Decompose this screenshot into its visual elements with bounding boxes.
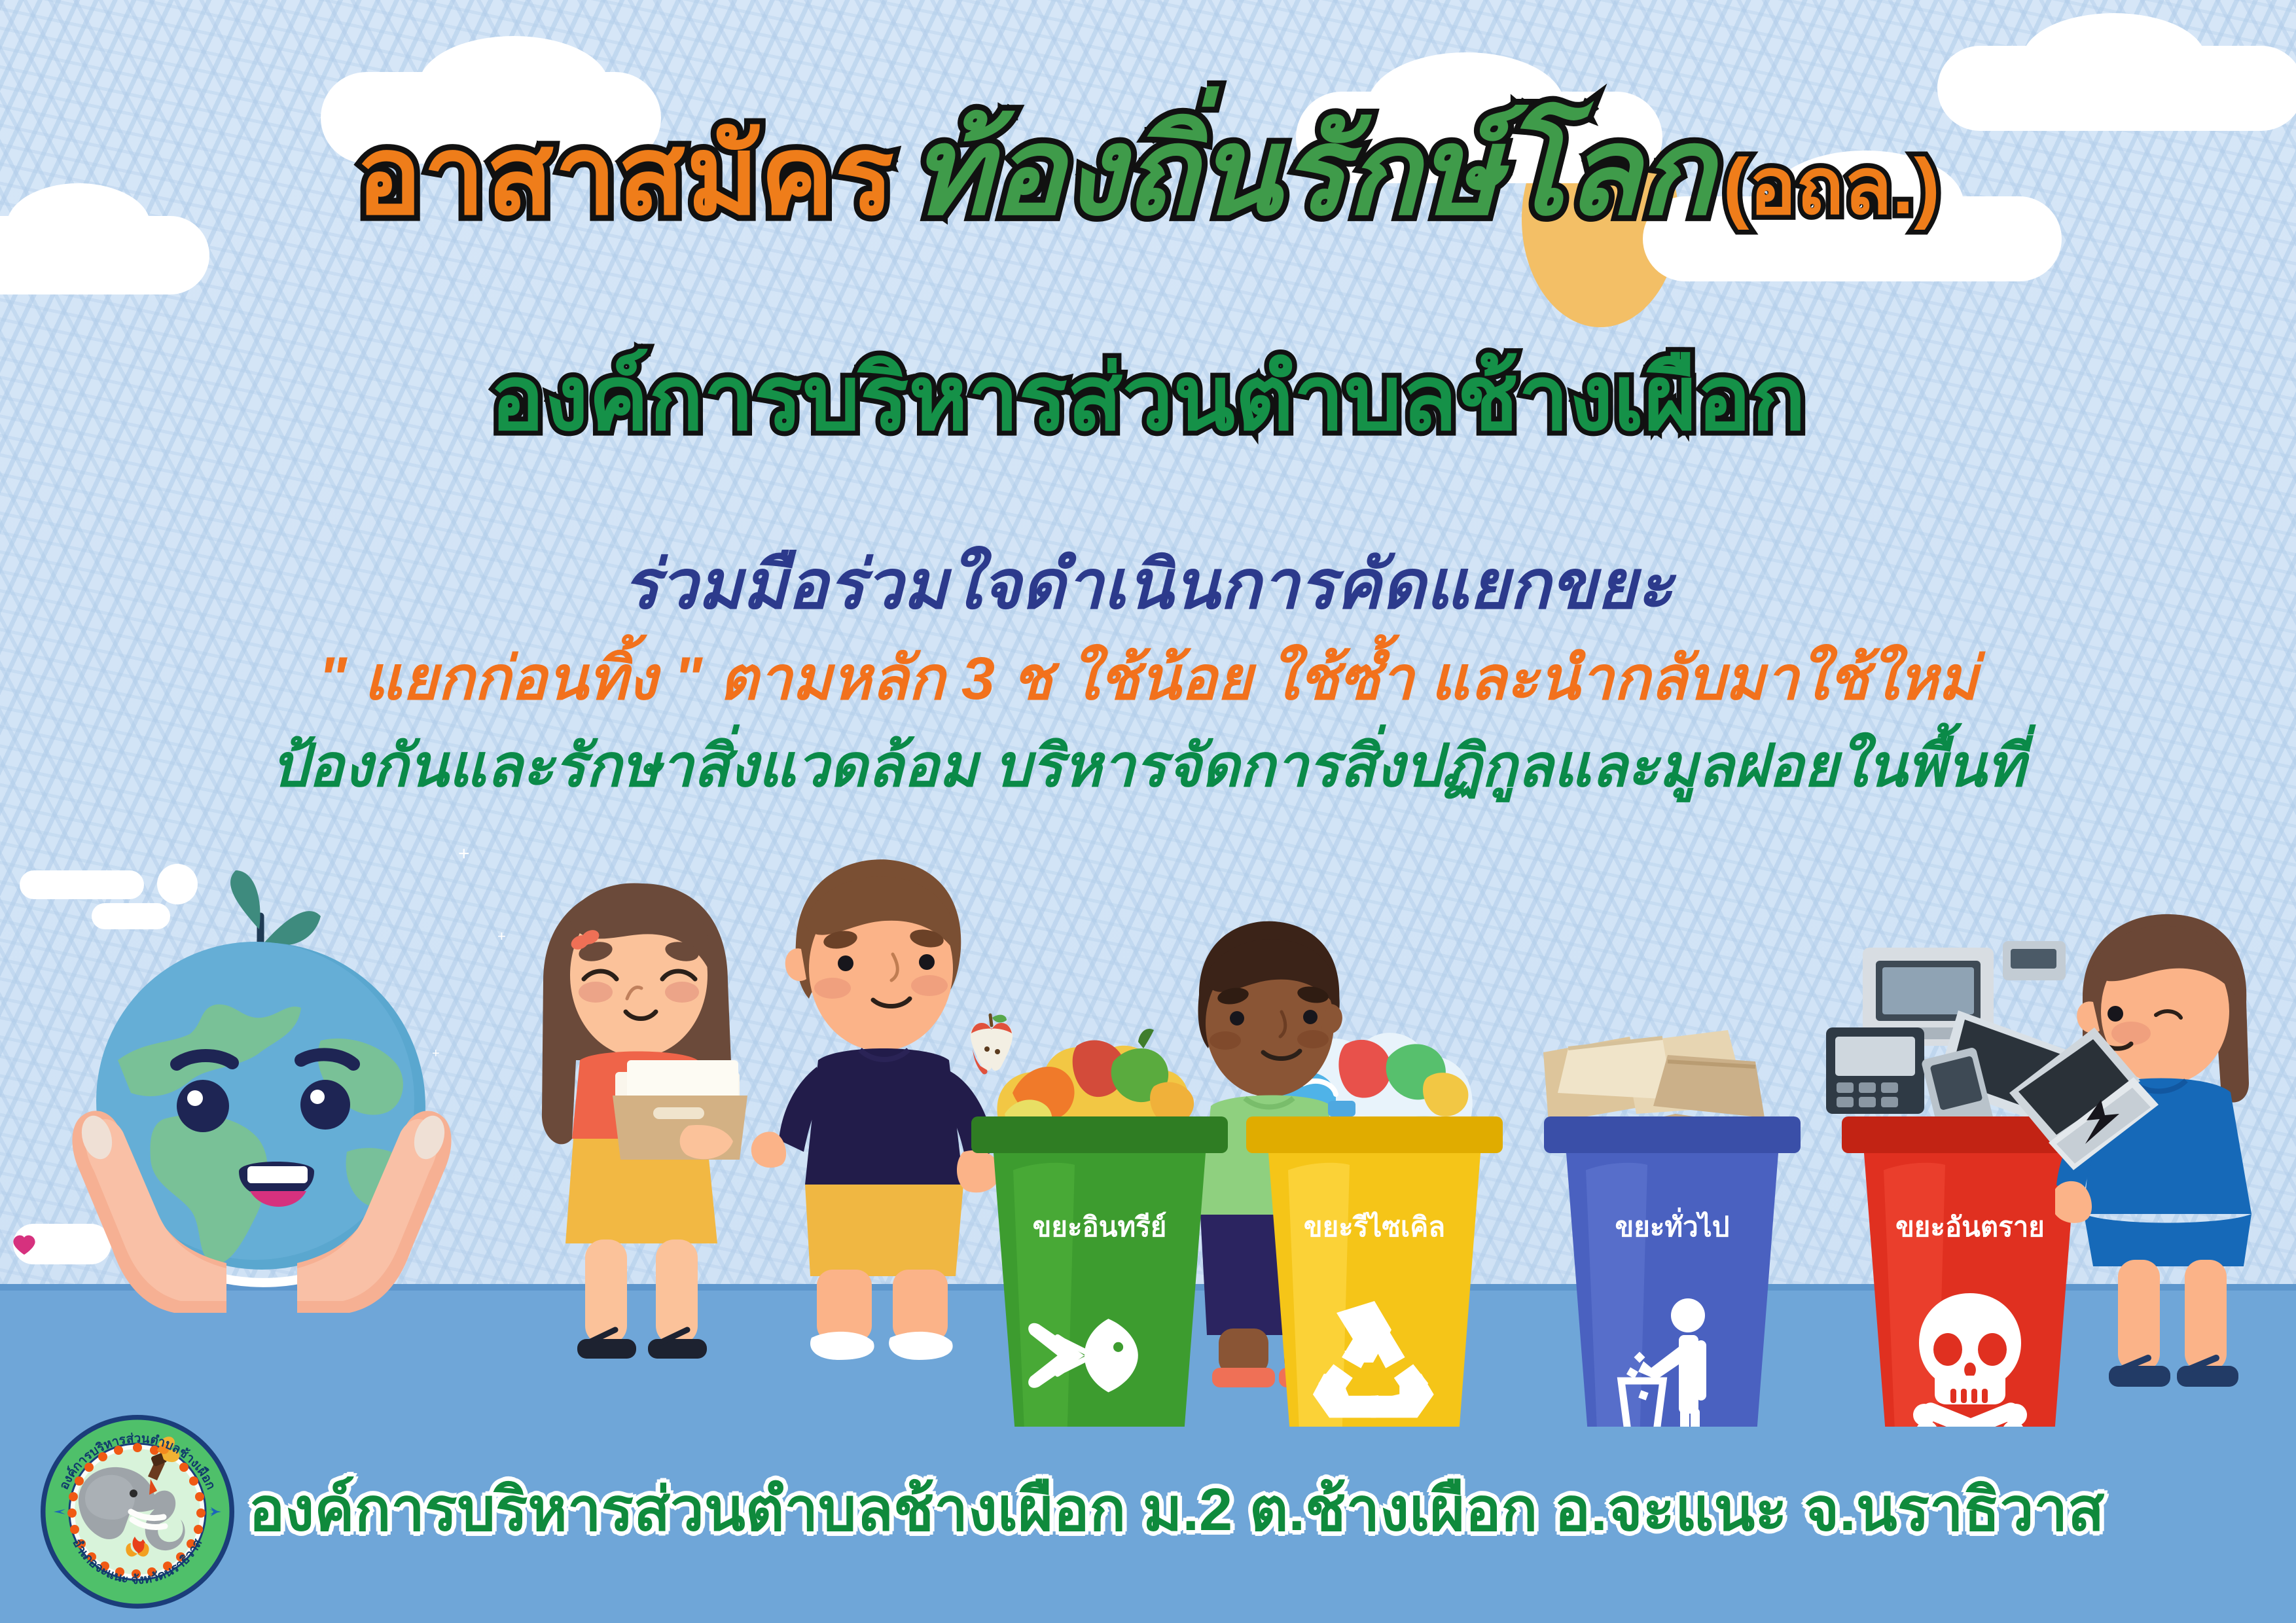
bin-label-recycle: ขยะรีไซเคิล: [1237, 1205, 1512, 1249]
bin-label-organic: ขยะอินทรีย์: [962, 1205, 1237, 1249]
illustration-scene: ขยะอินทรีย์: [0, 0, 2296, 1623]
bin-label-general: ขยะทั่วไป: [1535, 1205, 1810, 1249]
poster-canvas: + + + + อาสาสมัครท้องถิ่นรักษ์โลก(อถล.) …: [0, 0, 2296, 1623]
footer-address-text: องค์การบริหารส่วนตำบลช้างเผือก ม.2 ต.ช้า…: [249, 1461, 2278, 1557]
earth-in-hands-illustration: [39, 844, 484, 1329]
laptop-icon: [2003, 1021, 2166, 1185]
character-girl-with-paper-box: [517, 864, 766, 1381]
municipality-seal-logo: องค์การบริหารส่วนตำบลช้างเผือก อำเภอจะแน…: [39, 1414, 236, 1610]
